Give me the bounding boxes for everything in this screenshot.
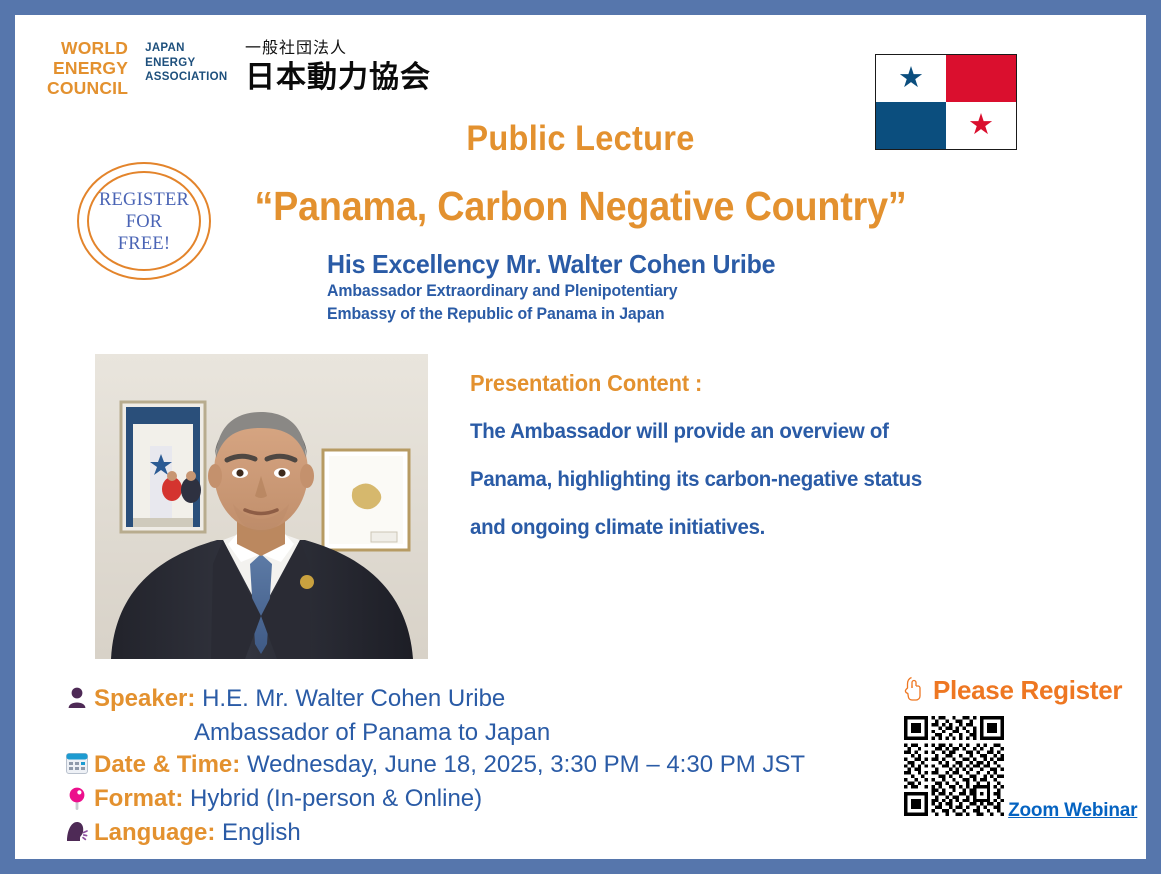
detail-format-label: Format: bbox=[94, 785, 183, 812]
wec-line-2: ENERGY bbox=[47, 58, 128, 78]
presentation-line-2: Panama, highlighting its carbon-negative… bbox=[470, 467, 1078, 492]
detail-datetime-value: Wednesday, June 18, 2025, 3:30 PM – 4:30… bbox=[247, 751, 805, 778]
jea-line-1: JAPAN bbox=[145, 41, 227, 56]
registration-block: Please Register bbox=[903, 675, 1138, 822]
location-pin-icon bbox=[60, 783, 94, 811]
calendar-icon bbox=[60, 749, 94, 774]
page-title: “Panama, Carbon Negative Country” bbox=[60, 183, 1101, 230]
presentation-line-1: The Ambassador will provide an overview … bbox=[470, 419, 1078, 444]
wec-line-3: COUNCIL bbox=[47, 78, 128, 98]
flag-star-blue: ★ bbox=[898, 64, 924, 93]
detail-row-language: Language: English bbox=[60, 817, 920, 849]
speaking-head-icon bbox=[60, 817, 94, 843]
world-energy-council-logo: WORLD ENERGY COUNCIL JAPAN ENERGY ASSOCI… bbox=[47, 38, 227, 98]
jea-line-2: ENERGY bbox=[145, 56, 227, 71]
qr-code[interactable] bbox=[904, 716, 1004, 816]
speaker-portrait-photo bbox=[95, 354, 428, 659]
register-heading: Please Register bbox=[933, 675, 1122, 706]
zoom-webinar-link[interactable]: Zoom Webinar bbox=[1008, 800, 1137, 822]
jea-line-3: ASSOCIATION bbox=[145, 70, 227, 85]
presentation-content-heading: Presentation Content : bbox=[470, 370, 1078, 397]
detail-speaker-text: Speaker: H.E. Mr. Walter Cohen Uribe bbox=[94, 683, 505, 715]
jea-japanese-large: 日本動力協会 bbox=[245, 59, 431, 97]
speaker-role: Ambassador Extraordinary and Plenipotent… bbox=[327, 280, 775, 303]
detail-language-text: Language: English bbox=[94, 817, 301, 849]
detail-speaker-subvalue: Ambassador of Panama to Japan bbox=[60, 717, 920, 749]
flag-quadrant-top-left: ★ bbox=[876, 55, 946, 102]
detail-speaker-label: Speaker: bbox=[94, 685, 195, 712]
detail-datetime-text: Date & Time: Wednesday, June 18, 2025, 3… bbox=[94, 749, 805, 781]
detail-row-speaker: Speaker: H.E. Mr. Walter Cohen Uribe bbox=[60, 683, 920, 715]
presentation-content-block: Presentation Content : The Ambassador wi… bbox=[470, 370, 1110, 563]
flag-quadrant-top-right bbox=[946, 55, 1016, 102]
japanese-association-logo: 一般社団法人 日本動力協会 bbox=[245, 37, 431, 97]
detail-language-label: Language: bbox=[94, 819, 215, 846]
detail-language-value: English bbox=[222, 819, 301, 846]
presentation-line-3: and ongoing climate initiatives. bbox=[470, 515, 1078, 540]
presentation-content-body: The Ambassador will provide an overview … bbox=[470, 419, 1110, 540]
poster-canvas: WORLD ENERGY COUNCIL JAPAN ENERGY ASSOCI… bbox=[15, 15, 1146, 859]
wec-wordmark: WORLD ENERGY COUNCIL bbox=[47, 38, 136, 98]
speaker-organization: Embassy of the Republic of Panama in Jap… bbox=[327, 303, 775, 326]
detail-row-datetime: Date & Time: Wednesday, June 18, 2025, 3… bbox=[60, 749, 920, 781]
event-details-list: Speaker: H.E. Mr. Walter Cohen Uribe Amb… bbox=[60, 683, 920, 851]
register-heading-row: Please Register bbox=[903, 675, 1138, 706]
speaker-name: His Excellency Mr. Walter Cohen Uribe bbox=[327, 248, 775, 280]
detail-speaker-value: H.E. Mr. Walter Cohen Uribe bbox=[202, 685, 505, 712]
jea-japanese-small: 一般社団法人 bbox=[245, 37, 431, 59]
detail-datetime-label: Date & Time: bbox=[94, 751, 240, 778]
page-kicker: Public Lecture bbox=[55, 119, 1107, 159]
detail-format-text: Format: Hybrid (In-person & Online) bbox=[94, 783, 482, 815]
pointing-hand-icon bbox=[903, 675, 925, 706]
wec-line-1: WORLD bbox=[47, 38, 128, 58]
speaker-heading-block: His Excellency Mr. Walter Cohen Uribe Am… bbox=[327, 248, 794, 326]
badge-line-3: FREE! bbox=[77, 233, 211, 255]
detail-row-format: Format: Hybrid (In-person & Online) bbox=[60, 783, 920, 815]
portrait-illustration bbox=[95, 354, 428, 659]
person-icon bbox=[60, 683, 94, 709]
japan-energy-association-wordmark: JAPAN ENERGY ASSOCIATION bbox=[145, 38, 227, 98]
detail-format-value: Hybrid (In-person & Online) bbox=[190, 785, 482, 812]
